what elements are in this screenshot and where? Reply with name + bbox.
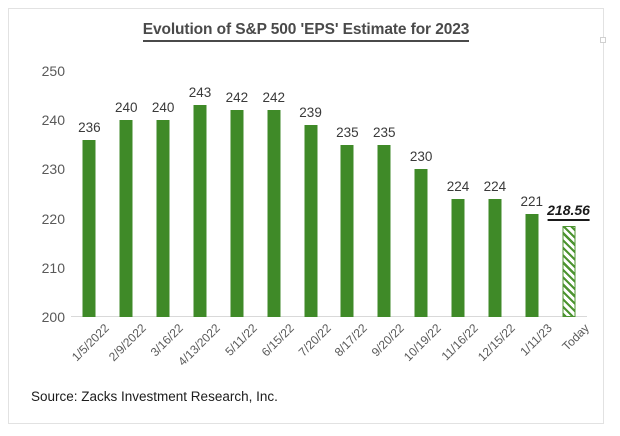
- bar-slot: 242: [255, 71, 292, 317]
- y-tick-label: 250: [21, 63, 65, 79]
- bar-value-label: 243: [189, 85, 212, 100]
- plot-area: 2362402402432422422392352352302242242212…: [71, 71, 587, 317]
- bar-slot: 218.56: [550, 71, 587, 317]
- bar-value-label: 218.56: [547, 202, 590, 221]
- bar[interactable]: [120, 120, 133, 317]
- bar[interactable]: [230, 110, 243, 317]
- y-tick-label: 230: [21, 161, 65, 177]
- bar-value-label: 236: [78, 120, 101, 135]
- bar[interactable]: [378, 145, 391, 317]
- bar[interactable]: [451, 199, 464, 317]
- bar[interactable]: [415, 169, 428, 317]
- y-tick-label: 220: [21, 211, 65, 227]
- bar[interactable]: [83, 140, 96, 317]
- y-tick-label: 210: [21, 260, 65, 276]
- bar[interactable]: [341, 145, 354, 317]
- bar-slot: 224: [440, 71, 477, 317]
- bar-value-label: 235: [373, 125, 396, 140]
- bar-value-label: 239: [299, 105, 322, 120]
- chart-plot-wrapper: 200210220230240250 236240240243242242239…: [9, 9, 605, 425]
- bar-value-label: 240: [115, 100, 138, 115]
- bar-slot: 235: [329, 71, 366, 317]
- bar[interactable]: [304, 125, 317, 317]
- bar-value-label: 242: [226, 90, 249, 105]
- bar-value-label: 235: [336, 125, 359, 140]
- bar-slot: 242: [218, 71, 255, 317]
- y-axis: 200210220230240250: [17, 71, 65, 317]
- bar-slot: 235: [366, 71, 403, 317]
- y-tick-label: 240: [21, 112, 65, 128]
- bar[interactable]: [525, 214, 538, 317]
- source-note: Source: Zacks Investment Research, Inc.: [31, 389, 278, 404]
- bar-value-label: 224: [447, 179, 470, 194]
- bar-slot: 230: [403, 71, 440, 317]
- bar-slot: 236: [71, 71, 108, 317]
- bar[interactable]: [562, 226, 575, 317]
- bar-slot: 240: [108, 71, 145, 317]
- bar-value-label: 230: [410, 149, 433, 164]
- y-tick-label: 200: [21, 309, 65, 325]
- bar-slot: 221: [513, 71, 550, 317]
- bar[interactable]: [193, 105, 206, 317]
- x-axis: 1/5/20222/9/20223/16/224/13/20225/11/226…: [71, 321, 587, 391]
- bar-slot: 243: [182, 71, 219, 317]
- bar[interactable]: [157, 120, 170, 317]
- bar-value-label: 224: [484, 179, 507, 194]
- bar[interactable]: [488, 199, 501, 317]
- bar[interactable]: [267, 110, 280, 317]
- chart-card: Evolution of S&P 500 'EPS' Estimate for …: [8, 8, 604, 424]
- bar-value-label: 221: [520, 194, 543, 209]
- bar-value-label: 242: [262, 90, 285, 105]
- bar-slot: 224: [476, 71, 513, 317]
- bar-value-label: 240: [152, 100, 175, 115]
- bar-slot: 240: [145, 71, 182, 317]
- bar-slot: 239: [292, 71, 329, 317]
